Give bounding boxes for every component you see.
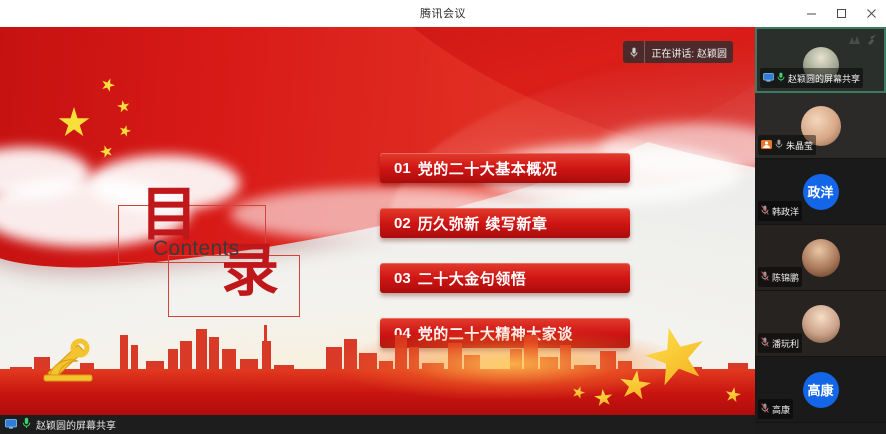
window-controls — [796, 0, 886, 26]
microphone-muted-icon — [761, 400, 769, 418]
microphone-icon — [623, 41, 645, 63]
agenda-item-1-number: 01 — [394, 160, 411, 177]
user-orange-icon — [761, 136, 772, 154]
avatar — [802, 239, 840, 277]
participant-name-row: 韩政洋 — [758, 201, 802, 221]
agenda-item-2-number: 02 — [394, 215, 411, 232]
agenda-item-1: 01 党的二十大基本概况 — [380, 153, 630, 183]
maximize-button[interactable] — [826, 0, 856, 26]
heading-contents-en: Contents — [153, 237, 239, 261]
microphone-icon[interactable] — [22, 416, 31, 434]
participant-name: 陈锦鹏 — [772, 271, 799, 284]
presentation-slide: 目 录 Contents 01 党的二十大基本概况 02 历久弥新 续写新章 0… — [0, 27, 755, 415]
monitor-icon — [5, 416, 17, 434]
participant-name-row: 赵颖圆的屏幕共享 — [760, 68, 863, 88]
avatar: 高康 — [803, 372, 839, 408]
minimize-button[interactable] — [796, 0, 826, 26]
participant-name: 高康 — [772, 403, 790, 416]
agenda-item-3: 03 二十大金句领悟 — [380, 263, 630, 293]
speaking-label: 正在讲话: 赵颖圆 — [651, 45, 727, 60]
avatar: 政洋 — [803, 174, 839, 210]
avatar-initials: 政洋 — [807, 182, 833, 201]
audio-wave-icon — [848, 33, 862, 51]
microphone-icon — [777, 69, 785, 87]
party-emblem-icon — [38, 327, 104, 389]
participant-tile-2[interactable]: 朱晶莹 — [755, 93, 886, 159]
participant-tile-6[interactable]: 高康 高康 — [755, 357, 886, 423]
participant-tile-3[interactable]: 政洋 韩政洋 — [755, 159, 886, 225]
pin-icon[interactable] — [866, 33, 878, 51]
window-title: 腾讯会议 — [420, 5, 466, 21]
participant-name-row: 陈锦鹏 — [758, 267, 802, 287]
microphone-muted-icon — [761, 202, 769, 220]
avatar-initials: 高康 — [807, 380, 833, 399]
monitor-icon — [763, 69, 774, 87]
participant-tile-4[interactable]: 陈锦鹏 — [755, 225, 886, 291]
agenda-item-2-text: 历久弥新 续写新章 — [418, 213, 548, 234]
agenda-item-1-text: 党的二十大基本概况 — [418, 158, 558, 179]
participant-tile-1[interactable]: 赵颖圆的屏幕共享 — [755, 27, 886, 93]
participant-name-row: 潘玩利 — [758, 333, 802, 353]
participant-name: 朱晶莹 — [786, 139, 813, 152]
shared-screen-stage[interactable]: 目 录 Contents 01 党的二十大基本概况 02 历久弥新 续写新章 0… — [0, 27, 755, 415]
microphone-muted-icon — [761, 268, 769, 286]
participant-rail[interactable]: 赵颖圆的屏幕共享 朱晶莹 政洋 — [755, 27, 886, 434]
share-status-text: 赵颖圆的屏幕共享 — [36, 417, 116, 432]
participant-name-row: 高康 — [758, 399, 793, 419]
avatar — [802, 305, 840, 343]
participant-name: 韩政洋 — [772, 205, 799, 218]
share-status-bar[interactable]: 赵颖圆的屏幕共享 — [0, 415, 755, 434]
agenda-item-3-number: 03 — [394, 270, 411, 287]
microphone-muted-icon — [761, 334, 769, 352]
participant-name: 赵颖圆的屏幕共享 — [788, 72, 860, 85]
microphone-muted-icon — [775, 136, 783, 154]
agenda-item-3-text: 二十大金句领悟 — [418, 268, 527, 289]
agenda-item-2: 02 历久弥新 续写新章 — [380, 208, 630, 238]
window-titlebar: 腾讯会议 — [0, 0, 886, 26]
speaking-indicator[interactable]: 正在讲话: 赵颖圆 — [623, 41, 733, 63]
tencent-meeting-window: 腾讯会议 — [0, 0, 886, 434]
participant-name: 潘玩利 — [772, 337, 799, 350]
close-button[interactable] — [856, 0, 886, 26]
slide-heading-block: 目 录 Contents — [118, 195, 293, 317]
participant-name-row: 朱晶莹 — [758, 135, 816, 155]
participant-tile-5[interactable]: 潘玩利 — [755, 291, 886, 357]
heading-char-mu: 目 — [140, 187, 198, 242]
